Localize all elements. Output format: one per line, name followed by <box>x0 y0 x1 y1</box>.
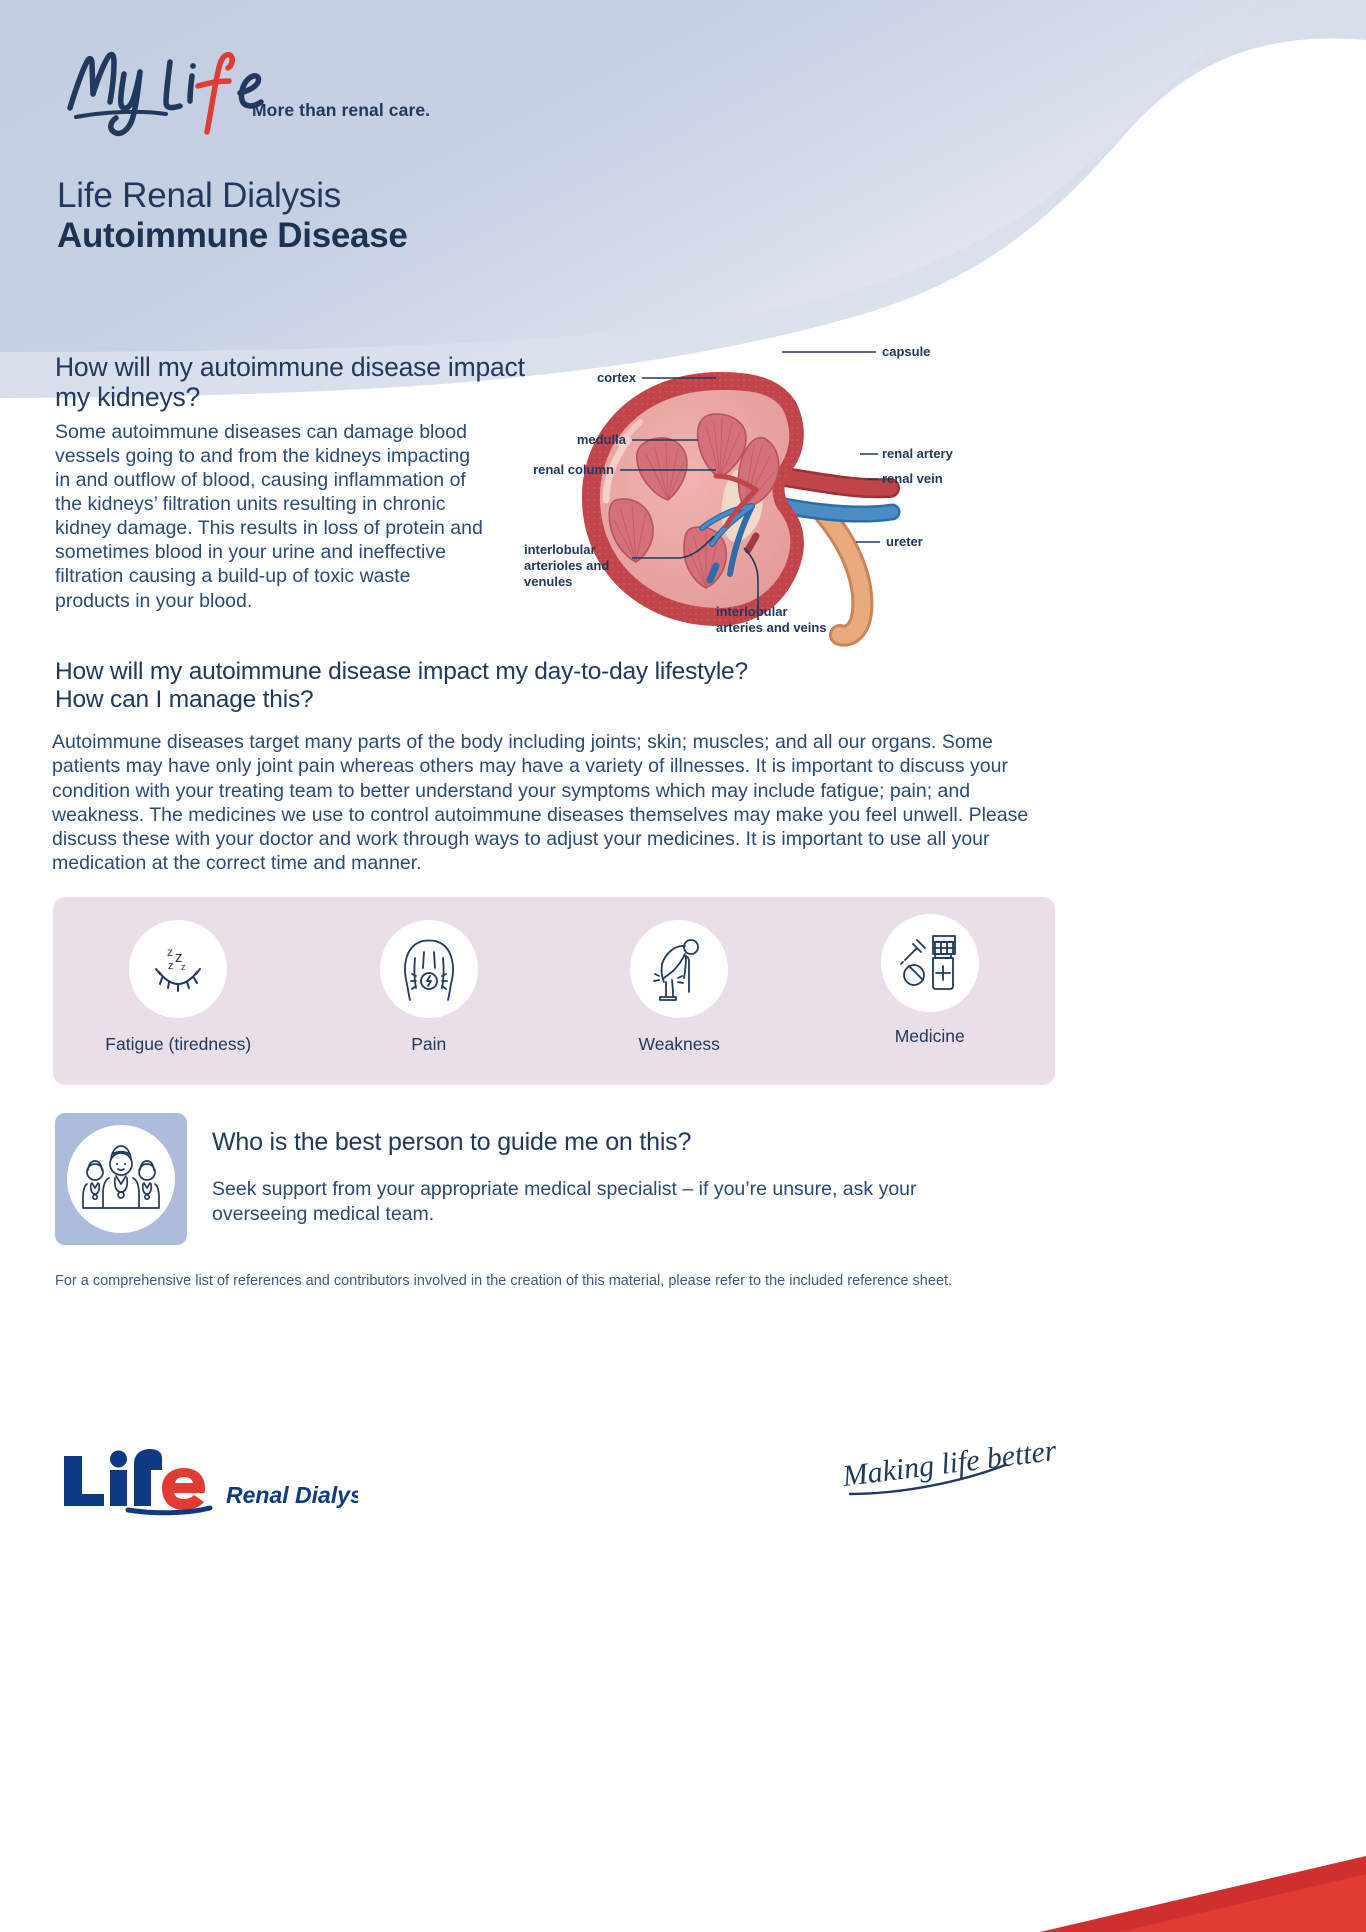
footer-red-wedge <box>0 1812 1366 1932</box>
tagline-suffix: care. <box>384 100 430 120</box>
footer-logo-subtext: Renal Dialysis <box>226 1482 358 1508</box>
pill-bottle-syringe-icon <box>881 914 979 1012</box>
label-interlobular-arteries-2: arteries and veins <box>716 620 827 635</box>
symptoms-row: z z z z Fatigue (tiredness) <box>53 897 1055 1085</box>
symptom-label: Pain <box>411 1034 446 1055</box>
label-renal-column: renal column <box>533 462 614 477</box>
label-renal-artery: renal artery <box>882 446 954 461</box>
svg-text:z: z <box>168 960 174 972</box>
label-interlobular-arteries-1: interlobular <box>716 604 788 619</box>
guide-body: Seek support from your appropriate medic… <box>212 1177 1012 1226</box>
symptoms-panel: z z z z Fatigue (tiredness) <box>53 897 1055 1085</box>
section1-body: Some autoimmune diseases can damage bloo… <box>55 420 485 613</box>
svg-text:z: z <box>181 962 186 972</box>
medical-team-icon <box>67 1125 175 1233</box>
label-renal-vein: renal vein <box>882 471 943 486</box>
sleeping-eye-zzz-icon: z z z z <box>129 920 227 1018</box>
symptom-item-pain: Pain <box>304 897 555 1055</box>
making-life-better-script: Making life better <box>840 1440 1060 1510</box>
mylife-logo <box>62 46 312 136</box>
page-title: Life Renal Dialysis Autoimmune Disease <box>57 176 408 256</box>
svg-text:z: z <box>167 945 173 959</box>
label-interlobular-arterioles-1: interlobular <box>524 542 596 557</box>
brand-tagline: More than renal care. <box>252 100 430 121</box>
label-cortex: cortex <box>597 370 637 385</box>
section2-heading-line-1: How will my autoimmune disease impact my… <box>55 658 1075 686</box>
footer-script-text: Making life better <box>840 1440 1059 1493</box>
section1-heading: How will my autoimmune disease impact my… <box>55 352 525 412</box>
label-interlobular-arterioles-2: arterioles and <box>524 558 609 573</box>
title-line-1: Life Renal Dialysis <box>57 176 408 216</box>
guide-heading: Who is the best person to guide me on th… <box>212 1128 691 1157</box>
symptom-label: Fatigue (tiredness) <box>105 1034 251 1055</box>
label-medulla: medulla <box>577 432 627 447</box>
hunched-person-cane-icon <box>630 920 728 1018</box>
symptom-item-medicine: Medicine <box>805 897 1056 1047</box>
kidney-anatomy-diagram: cortex medulla renal column capsule rena… <box>520 330 1080 650</box>
life-renal-dialysis-logo: Renal Dialysis <box>58 1448 358 1518</box>
label-ureter: ureter <box>886 534 923 549</box>
torso-pain-icon <box>380 920 478 1018</box>
tagline-prefix: More than <box>252 100 341 120</box>
label-capsule: capsule <box>882 344 930 359</box>
tagline-bold-word: renal <box>341 100 383 120</box>
document-page: More than renal care. Life Renal Dialysi… <box>0 0 1366 1932</box>
symptom-label: Weakness <box>639 1034 720 1055</box>
section2-body: Autoimmune diseases target many parts of… <box>52 730 1052 876</box>
guide-icon-container <box>55 1113 187 1245</box>
title-line-2: Autoimmune Disease <box>57 216 408 256</box>
section2-heading: How will my autoimmune disease impact my… <box>55 658 1075 714</box>
section2-heading-line-2: How can I manage this? <box>55 686 1075 714</box>
symptom-label: Medicine <box>895 1026 965 1047</box>
symptom-item-fatigue: z z z z Fatigue (tiredness) <box>53 897 304 1055</box>
reference-note: For a comprehensive list of references a… <box>55 1272 1065 1291</box>
symptom-item-weakness: Weakness <box>554 897 805 1055</box>
label-interlobular-arterioles-3: venules <box>524 574 572 589</box>
